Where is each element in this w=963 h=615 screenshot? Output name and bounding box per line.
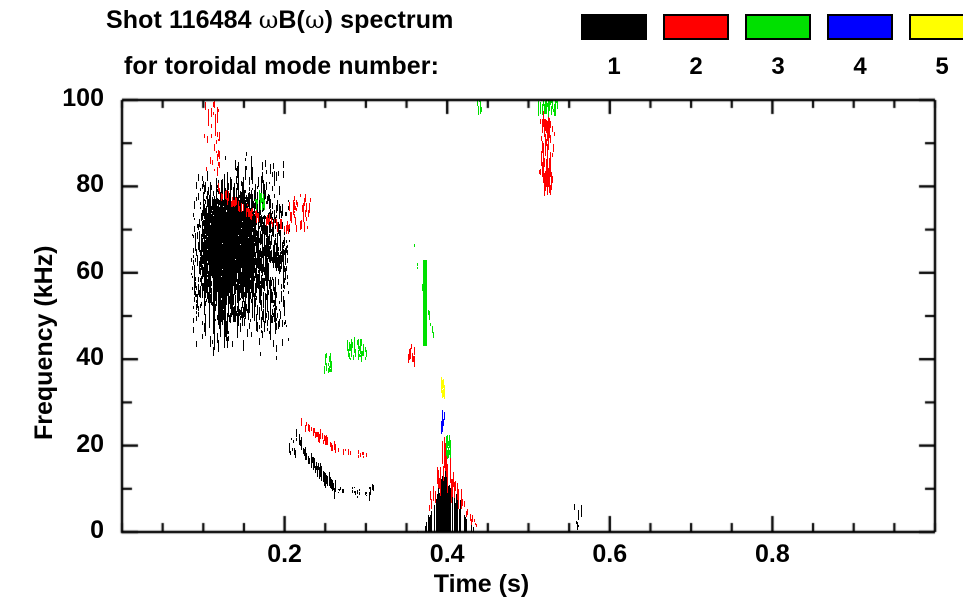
legend-swatch-2 xyxy=(663,14,729,40)
x-axis-label: Time (s) xyxy=(0,570,963,599)
x-tick-label-0.4: 0.4 xyxy=(387,540,507,569)
x-tick-label-0.6: 0.6 xyxy=(550,540,670,569)
legend-label-3: 3 xyxy=(745,53,811,81)
y-axis-label: Frequency (kHz) xyxy=(30,246,59,440)
x-tick-label-0.2: 0.2 xyxy=(225,540,345,569)
legend-swatch-1 xyxy=(581,14,647,40)
y-tick-label-100: 100 xyxy=(20,84,104,113)
spectrogram-canvas xyxy=(122,100,935,532)
legend-swatch-5 xyxy=(909,14,963,40)
y-tick-label-80: 80 xyxy=(20,170,104,199)
legend-swatch-4 xyxy=(827,14,893,40)
spectrogram-figure: Shot 116484 ωB(ω) spectrum for toroidal … xyxy=(0,0,963,615)
plot-area xyxy=(122,100,935,532)
y-tick-label-0: 0 xyxy=(20,516,104,545)
legend-label-1: 1 xyxy=(581,53,647,81)
x-tick-label-0.8: 0.8 xyxy=(712,540,832,569)
legend-label-4: 4 xyxy=(827,53,893,81)
legend: 12345 xyxy=(0,0,963,96)
legend-label-5: 5 xyxy=(909,53,963,81)
legend-label-2: 2 xyxy=(663,53,729,81)
legend-swatch-3 xyxy=(745,14,811,40)
